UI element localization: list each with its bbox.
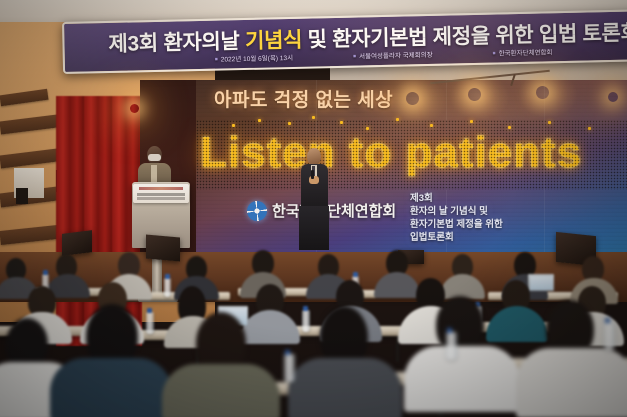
- speaker-left-mask: [148, 154, 161, 161]
- pinwheel-logo-icon: [247, 201, 267, 221]
- led-sparkle: [312, 116, 315, 119]
- screen-info-line-3: 환자기본법 제정을 위한: [410, 218, 560, 231]
- banner-title-highlight: 기념식: [245, 29, 303, 53]
- led-sparkle: [340, 121, 343, 124]
- water-bottle-icon: [146, 312, 154, 334]
- placard-line: [139, 187, 183, 190]
- audience-shoulders: [50, 358, 172, 417]
- speaker-center-head: [307, 148, 321, 165]
- water-bottle-icon: [446, 332, 457, 360]
- led-sparkle: [396, 118, 399, 121]
- screen-info-line-2: 환자의 날 기념식 및: [410, 205, 560, 218]
- audience-shoulders: [404, 346, 520, 412]
- wall-av-monitor: [16, 188, 28, 204]
- screen-info-block: 제3회 환자의 날 기념식 및 환자기본법 제정을 위한 입법토론회: [410, 192, 560, 244]
- banner-title-part1: 제3회 환자의날: [108, 30, 245, 56]
- spotlight-icon: [468, 88, 481, 101]
- spotlight-icon: [536, 86, 549, 99]
- placard-line: [137, 193, 185, 196]
- banner-venue: 서울여성플라자 국제회의장: [353, 49, 433, 61]
- led-sparkle: [288, 122, 291, 125]
- led-slogan-text: Listen to patients: [200, 128, 582, 178]
- spotlight-icon: [130, 104, 139, 113]
- laptop-icon: [528, 274, 554, 291]
- led-sparkle: [366, 127, 369, 130]
- stage-monitor-icon: [146, 235, 180, 262]
- audience-shoulders: [162, 364, 280, 417]
- speaker-left-shirt: [151, 165, 157, 183]
- led-sparkle: [470, 120, 473, 123]
- placard-line: [137, 197, 185, 200]
- led-sparkle: [508, 126, 511, 129]
- led-sparkle: [588, 127, 591, 130]
- water-bottle-icon: [604, 322, 615, 350]
- podium-placard: [133, 184, 189, 203]
- laptop-screen: [530, 276, 553, 290]
- microphone-icon: [311, 170, 314, 179]
- stage-monitor-icon: [62, 230, 92, 256]
- speaker-center-legs: [299, 206, 329, 250]
- water-bottle-icon: [164, 278, 171, 297]
- led-sparkle: [258, 119, 261, 122]
- spotlight-icon: [406, 92, 419, 105]
- water-bottle-icon: [302, 310, 310, 332]
- audience-shoulders: [240, 310, 300, 344]
- led-sparkle: [430, 124, 433, 127]
- spotlight-icon: [608, 92, 618, 102]
- banner-date: 2022년 10월 6일(목) 13시: [215, 52, 293, 64]
- audience-shoulders: [516, 348, 627, 417]
- screen-info-line-1: 제3회: [410, 192, 560, 205]
- banner-host: 한국환자단체연합회: [492, 46, 552, 57]
- organization-name: 한국환자단체연합회: [272, 200, 396, 221]
- audience-shoulders: [486, 306, 548, 342]
- screen-info-line-4: 입법토론회: [410, 231, 560, 244]
- led-sparkle: [548, 121, 551, 124]
- water-bottle-icon: [284, 354, 295, 382]
- audience-shoulders: [288, 358, 402, 417]
- conference-photo: 아파도 걱정 없는 세상 Listen to patients 한국환자단체연합…: [0, 0, 627, 417]
- led-sparkle: [232, 124, 235, 127]
